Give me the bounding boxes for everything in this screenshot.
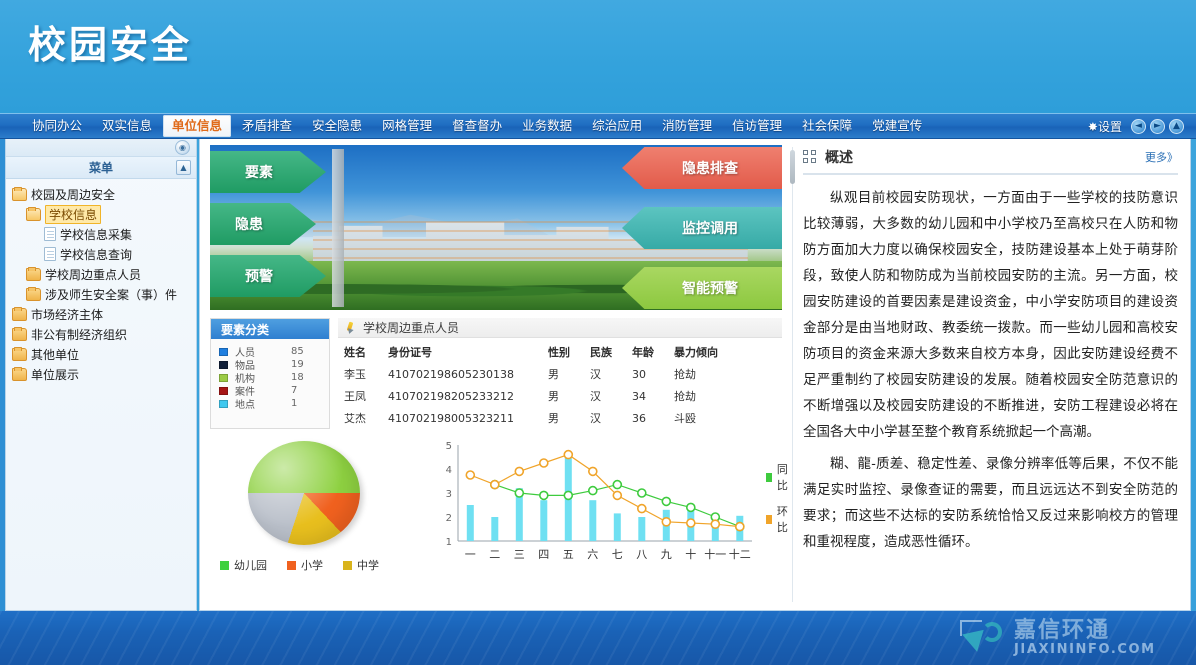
hero-arrow-right-2[interactable]: 监控调用	[622, 207, 782, 249]
category-value: 85	[291, 346, 304, 357]
table-cell: 汉	[588, 363, 630, 385]
sidebar-item-8[interactable]: 其他单位	[6, 344, 196, 364]
hero-arrow-label: 监控调用	[682, 218, 738, 238]
nav-item-4[interactable]: 安全隐患	[303, 115, 371, 137]
folder-icon	[26, 268, 41, 281]
folder-icon	[12, 368, 27, 381]
table-cell: 抢劫	[672, 363, 782, 385]
category-name: 地点	[235, 396, 273, 411]
overview-paragraph: 纵观目前校园安防现状，一方面由于一些学校的技防意识比较薄弱，大多数的幼儿园和中小…	[803, 185, 1178, 445]
table-cell: 410702198605230138	[386, 363, 546, 385]
svg-text:3: 3	[446, 489, 452, 500]
table-body: 李玉410702198605230138男汉30抢劫王凤410702198205…	[338, 363, 782, 429]
svg-text:一: 一	[465, 548, 476, 561]
legend-label: 环比	[777, 503, 791, 535]
app-root: 校园安全 协同办公双实信息单位信息矛盾排查安全隐患网格管理督查督办业务数据综治应…	[0, 0, 1196, 665]
bar-line-legend: 同比环比	[766, 461, 791, 545]
nav-item-1[interactable]: 双实信息	[93, 115, 161, 137]
nav-item-8[interactable]: 综治应用	[583, 115, 651, 137]
table-cell: 34	[630, 385, 672, 407]
document-icon	[44, 247, 56, 261]
svg-text:十一: 十一	[704, 547, 726, 561]
category-value: 7	[291, 385, 297, 396]
pie-legend: 幼儿园小学中学	[220, 557, 379, 573]
sidebar-item-6[interactable]: 市场经济主体	[6, 304, 196, 324]
chevron-up-icon[interactable]: ▲	[176, 160, 191, 175]
page-title: 校园安全	[28, 14, 192, 69]
sidebar-item-2[interactable]: 学校信息采集	[6, 224, 196, 244]
table-col-header: 暴力倾向	[672, 341, 782, 363]
sidebar-tree: 校园及周边安全学校信息学校信息采集学校信息查询学校周边重点人员涉及师生安全案（事…	[6, 179, 196, 384]
svg-text:三: 三	[514, 548, 525, 561]
folder-icon	[12, 308, 27, 321]
grid-icon	[803, 150, 817, 164]
category-title: 要素分类	[211, 319, 329, 339]
svg-text:4: 4	[446, 465, 452, 476]
arrow-right-icon[interactable]: ►	[1150, 119, 1165, 134]
nav-item-12[interactable]: 党建宣传	[863, 115, 931, 137]
table-col-header: 身份证号	[386, 341, 546, 363]
people-panel: 学校周边重点人员 姓名身份证号性别民族年龄暴力倾向 李玉410702198605…	[338, 318, 782, 429]
table-header-row: 姓名身份证号性别民族年龄暴力倾向	[338, 341, 782, 363]
watermark-en: JIAXININFO.COM	[1014, 642, 1156, 657]
table-cell: 李玉	[338, 363, 386, 385]
sidebar: ◉ 菜单 ▲ 校园及周边安全学校信息学校信息采集学校信息查询学校周边重点人员涉及…	[5, 139, 197, 611]
sidebar-item-label: 单位展示	[31, 366, 79, 383]
nav-item-6[interactable]: 督查督办	[443, 115, 511, 137]
color-swatch	[219, 348, 228, 356]
color-swatch	[219, 374, 228, 382]
sidebar-item-3[interactable]: 学校信息查询	[6, 244, 196, 264]
table-col-header: 民族	[588, 341, 630, 363]
watermark-text: 嘉信环通 JIAXININFO.COM	[1014, 620, 1156, 657]
svg-text:四: 四	[538, 548, 549, 561]
overview-body: 纵观目前校园安防现状，一方面由于一些学校的技防意识比较薄弱，大多数的幼儿园和中小…	[803, 185, 1178, 555]
table-col-header: 性别	[546, 341, 588, 363]
svg-text:十: 十	[685, 547, 696, 561]
sidebar-item-label: 学校信息	[45, 205, 101, 224]
table-cell: 男	[546, 363, 588, 385]
nav-item-list: 协同办公双实信息单位信息矛盾排查安全隐患网格管理督查督办业务数据综治应用消防管理…	[22, 115, 932, 137]
table-cell: 斗殴	[672, 407, 782, 429]
svg-text:二: 二	[489, 548, 500, 561]
people-header: 学校周边重点人员	[338, 318, 782, 338]
svg-text:七: 七	[612, 548, 623, 561]
color-swatch	[219, 387, 228, 395]
overview-panel: 概述 更多》 纵观目前校园安防现状，一方面由于一些学校的技防意识比较薄弱，大多数…	[793, 139, 1190, 610]
svg-text:2: 2	[446, 513, 452, 524]
sidebar-item-4[interactable]: 学校周边重点人员	[6, 264, 196, 284]
watermark: 嘉信环通 JIAXININFO.COM	[960, 614, 1186, 662]
nav-tools: ✸设置 ◄ ► ▲	[1088, 118, 1184, 135]
pie-chart: 幼儿园小学中学	[210, 439, 430, 569]
category-value: 1	[291, 398, 297, 409]
table-cell: 410702198205233212	[386, 385, 546, 407]
color-swatch	[219, 361, 228, 369]
legend-swatch	[766, 473, 772, 482]
table-row[interactable]: 艾杰410702198005323211男汉36斗殴	[338, 407, 782, 429]
table-cell: 男	[546, 385, 588, 407]
nav-item-9[interactable]: 消防管理	[653, 115, 721, 137]
sidebar-item-label: 涉及师生安全案（事）件	[45, 286, 177, 303]
svg-text:1: 1	[446, 537, 452, 548]
legend-item: 中学	[343, 557, 379, 573]
sidebar-item-7[interactable]: 非公有制经济组织	[6, 324, 196, 344]
table-col-header: 姓名	[338, 341, 386, 363]
page-header: 校园安全	[0, 0, 1196, 113]
legend-swatch	[343, 561, 352, 570]
folder-icon	[12, 348, 27, 361]
table-cell: 抢劫	[672, 385, 782, 407]
folder-open-icon	[26, 208, 41, 221]
pencil-icon	[344, 322, 356, 334]
sidebar-topbar: ◉	[6, 139, 196, 157]
table-cell: 男	[546, 407, 588, 429]
logo-icon	[960, 618, 1008, 658]
legend-item: 幼儿园	[220, 557, 267, 573]
hero-arrow-label: 要素	[245, 162, 273, 182]
table-cell: 艾杰	[338, 407, 386, 429]
nav-item-5[interactable]: 网格管理	[373, 115, 441, 137]
table-cell: 汉	[588, 407, 630, 429]
category-row: 地点1	[211, 397, 329, 410]
nav-item-10[interactable]: 信访管理	[723, 115, 791, 137]
document-icon	[44, 227, 56, 241]
overview-paragraph: 糊、龍-质差、稳定性差、录像分辨率低等后果，不仅不能满足实时监控、录像查证的需要…	[803, 451, 1178, 555]
arrow-up-icon[interactable]: ▲	[1169, 119, 1184, 134]
sidebar-item-label: 校园及周边安全	[31, 186, 115, 203]
sidebar-item-9[interactable]: 单位展示	[6, 364, 196, 384]
legend-item: 同比	[766, 461, 791, 493]
color-swatch	[219, 400, 228, 408]
left-column: 要素 隐患 预警 隐患排查 监控调用 智能预警	[200, 139, 792, 610]
category-value: 18	[291, 372, 304, 383]
legend-item: 环比	[766, 503, 791, 535]
table-col-header: 年龄	[630, 341, 672, 363]
arrow-left-icon[interactable]: ◄	[1131, 119, 1146, 134]
category-value: 19	[291, 359, 304, 370]
legend-swatch	[287, 561, 296, 570]
legend-label: 中学	[357, 557, 379, 573]
charts-row: 幼儿园小学中学 12345一二三四五六七八九十十一十二 同比环比	[210, 439, 782, 569]
sidebar-item-label: 市场经济主体	[31, 306, 103, 323]
folder-icon	[26, 288, 41, 301]
svg-text:六: 六	[587, 548, 598, 561]
nav-item-3[interactable]: 矛盾排查	[233, 115, 301, 137]
nav-item-0[interactable]: 协同办公	[23, 115, 91, 137]
table-cell: 410702198005323211	[386, 407, 546, 429]
category-list: 人员85物品19机构18案件7地点1	[211, 339, 329, 418]
gear-icon: ✸	[1088, 120, 1098, 134]
sidebar-item-5[interactable]: 涉及师生安全案（事）件	[6, 284, 196, 304]
sidebar-item-label: 学校信息查询	[60, 246, 132, 263]
table-row[interactable]: 李玉410702198605230138男汉30抢劫	[338, 363, 782, 385]
legend-swatch	[220, 561, 229, 570]
sidebar-item-label: 学校信息采集	[60, 226, 132, 243]
pin-icon[interactable]: ◉	[175, 140, 190, 155]
svg-text:五: 五	[563, 548, 574, 561]
hero-arrow-right-3[interactable]: 智能预警	[622, 267, 782, 309]
sidebar-item-1[interactable]: 学校信息	[6, 204, 196, 224]
legend-label: 小学	[301, 557, 323, 573]
legend-item: 小学	[287, 557, 323, 573]
nav-item-7[interactable]: 业务数据	[513, 115, 581, 137]
nav-item-11[interactable]: 社会保障	[793, 115, 861, 137]
main-panel: 要素 隐患 预警 隐患排查 监控调用 智能预警	[199, 139, 1191, 611]
table-cell: 汉	[588, 385, 630, 407]
people-table: 姓名身份证号性别民族年龄暴力倾向 李玉410702198605230138男汉3…	[338, 341, 782, 429]
hero-signpost	[332, 149, 344, 307]
svg-text:八: 八	[636, 548, 647, 561]
bar-line-chart: 12345一二三四五六七八九十十一十二 同比环比	[430, 439, 782, 569]
sidebar-item-label: 其他单位	[31, 346, 79, 363]
chart-svg: 12345一二三四五六七八九十十一十二	[430, 439, 760, 567]
watermark-cn: 嘉信环通	[1014, 620, 1156, 642]
legend-label: 同比	[777, 461, 791, 493]
sidebar-item-0[interactable]: 校园及周边安全	[6, 184, 196, 204]
content-area: ◉ 菜单 ▲ 校园及周边安全学校信息学校信息采集学校信息查询学校周边重点人员涉及…	[0, 139, 1196, 611]
mid-row: 要素分类 人员85物品19机构18案件7地点1 学校周边重点人员 姓名身份证号性…	[210, 318, 782, 429]
pie-body	[248, 441, 360, 545]
legend-label: 幼儿园	[234, 557, 267, 573]
hero-arrow-label: 预警	[245, 266, 273, 286]
table-cell: 王凤	[338, 385, 386, 407]
hero-arrow-right-1[interactable]: 隐患排查	[622, 147, 782, 189]
category-panel: 要素分类 人员85物品19机构18案件7地点1	[210, 318, 330, 429]
nav-item-2[interactable]: 单位信息	[163, 115, 231, 137]
table-row[interactable]: 王凤410702198205233212男汉34抢劫	[338, 385, 782, 407]
people-title: 学校周边重点人员	[363, 319, 459, 336]
main-navigation: 协同办公双实信息单位信息矛盾排查安全隐患网格管理督查督办业务数据综治应用消防管理…	[0, 113, 1196, 139]
table-cell: 36	[630, 407, 672, 429]
folder-icon	[12, 328, 27, 341]
sidebar-menu-header: 菜单 ▲	[6, 157, 196, 179]
folder-open-icon	[12, 188, 27, 201]
overview-title: 概述	[825, 147, 853, 167]
bar-line-plot: 12345一二三四五六七八九十十一十二	[430, 439, 760, 567]
sidebar-item-label: 学校周边重点人员	[45, 266, 141, 283]
overview-more-link[interactable]: 更多》	[1145, 149, 1178, 165]
hero-arrow-label: 隐患	[235, 214, 263, 234]
settings-button[interactable]: ✸设置	[1088, 118, 1122, 135]
hero-arrow-label: 智能预警	[682, 278, 738, 298]
legend-swatch	[766, 515, 772, 524]
table-cell: 30	[630, 363, 672, 385]
hero-arrow-label: 隐患排查	[682, 158, 738, 178]
svg-text:九: 九	[661, 548, 672, 561]
sidebar-menu-title: 菜单	[89, 159, 113, 176]
svg-text:5: 5	[446, 441, 452, 452]
sidebar-item-label: 非公有制经济组织	[31, 326, 127, 343]
svg-text:十二: 十二	[729, 547, 751, 561]
overview-header: 概述 更多》	[803, 147, 1178, 175]
hero-banner: 要素 隐患 预警 隐患排查 监控调用 智能预警	[210, 145, 782, 310]
